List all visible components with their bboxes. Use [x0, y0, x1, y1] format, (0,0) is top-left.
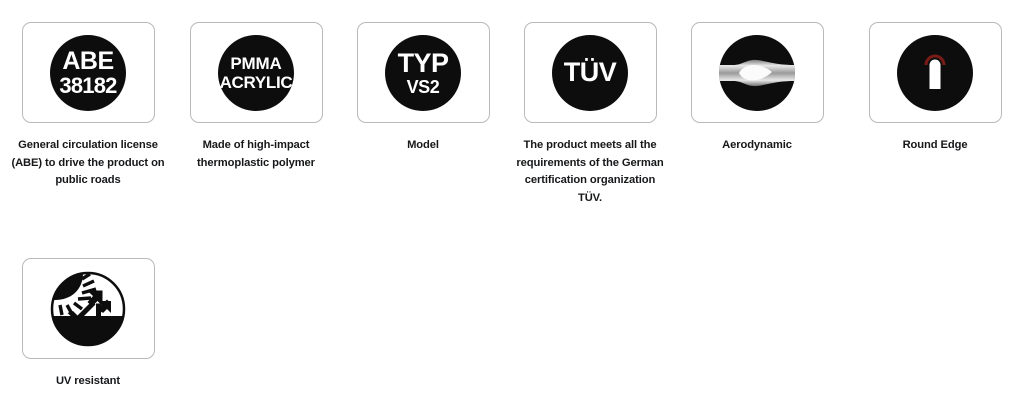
badge-caption-abe: General circulation license (ABE) to dri… [4, 137, 172, 190]
feature-item-round-edge: Round Edge [851, 22, 1019, 155]
abe-certification-icon: ABE 38182 [50, 35, 126, 111]
feature-item-pmma: PMMA ACRYLIC Made of high-impact thermop… [172, 22, 340, 172]
badge-caption-round-edge: Round Edge [851, 137, 1019, 155]
round-edge-icon [897, 35, 973, 111]
badge-card-aerodynamic [691, 22, 824, 123]
feature-item-tuv: TÜV The product meets all the requiremen… [506, 22, 674, 207]
tuv-emblem-line-1: TÜV [564, 59, 617, 86]
badge-card-round-edge [869, 22, 1002, 123]
feature-item-abe: ABE 38182 General circulation license (A… [4, 22, 172, 190]
pmma-acrylic-icon: PMMA ACRYLIC [218, 35, 294, 111]
typ-emblem-line-1: TYP [398, 50, 449, 77]
feature-item-aerodynamic: Aerodynamic [673, 22, 841, 155]
badge-card-uv-resistant [22, 258, 155, 359]
pmma-emblem-line-1: PMMA [230, 55, 281, 72]
badge-caption-aerodynamic: Aerodynamic [673, 137, 841, 155]
typ-emblem-line-2: VS2 [407, 78, 440, 96]
badge-caption-tuv: The product meets all the requirements o… [515, 137, 665, 207]
pmma-emblem-line-2: ACRYLIC [220, 74, 293, 91]
feature-item-uv-resistant: UV resistant [4, 258, 172, 391]
abe-emblem-line-2: 38182 [59, 75, 116, 97]
aerodynamic-airfoil-icon [719, 35, 795, 111]
badge-caption-uv-resistant: UV resistant [4, 373, 172, 391]
badge-card-model: TYP VS2 [357, 22, 490, 123]
model-type-icon: TYP VS2 [385, 35, 461, 111]
badge-card-abe: ABE 38182 [22, 22, 155, 123]
feature-item-model: TYP VS2 Model [339, 22, 507, 155]
uv-resistant-sun-icon [49, 270, 127, 348]
tuv-certification-icon: TÜV [552, 35, 628, 111]
abe-emblem-line-1: ABE [62, 49, 113, 74]
badge-caption-model: Model [339, 137, 507, 155]
badge-card-tuv: TÜV [524, 22, 657, 123]
badge-caption-pmma: Made of high-impact thermoplastic polyme… [172, 137, 340, 172]
feature-badge-grid: ABE 38182 General circulation license (A… [0, 0, 1024, 419]
badge-card-pmma: PMMA ACRYLIC [190, 22, 323, 123]
